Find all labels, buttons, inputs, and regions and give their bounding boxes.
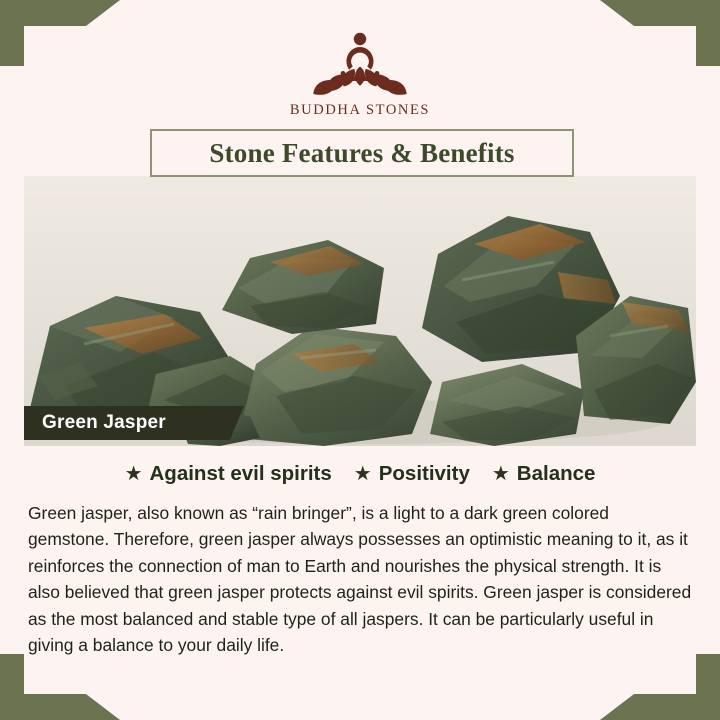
page-title-box: Stone Features & Benefits: [150, 129, 574, 177]
frame-corner-bottom-left-vertical: [0, 654, 24, 720]
infographic-page: BUDDHA STONES Stone Features & Benefits: [0, 0, 720, 720]
star-icon: ★: [354, 464, 372, 484]
benefit-item-1: ★ Against evil spirits: [125, 462, 332, 486]
benefit-item-3: ★ Balance: [492, 462, 596, 486]
benefit-item-2: ★ Positivity: [354, 462, 470, 486]
stone-name-ribbon: Green Jasper: [24, 406, 244, 440]
green-jasper-rough-stones-photo: [24, 176, 696, 446]
benefit-label-3: Balance: [517, 462, 596, 486]
stone-name-label: Green Jasper: [42, 412, 166, 434]
buddha-lotus-logo-icon: [294, 26, 426, 100]
benefit-label-2: Positivity: [379, 462, 470, 486]
benefits-row: ★ Against evil spirits ★ Positivity ★ Ba…: [24, 462, 696, 486]
brand-block: BUDDHA STONES: [0, 26, 720, 119]
star-icon: ★: [492, 464, 510, 484]
benefit-label-1: Against evil spirits: [150, 462, 332, 486]
brand-name: BUDDHA STONES: [0, 102, 720, 119]
star-icon: ★: [125, 464, 143, 484]
page-title: Stone Features & Benefits: [209, 138, 514, 169]
description-text: Green jasper, also known as “rain bringe…: [28, 500, 694, 659]
frame-corner-bottom-right-vertical: [696, 654, 720, 720]
